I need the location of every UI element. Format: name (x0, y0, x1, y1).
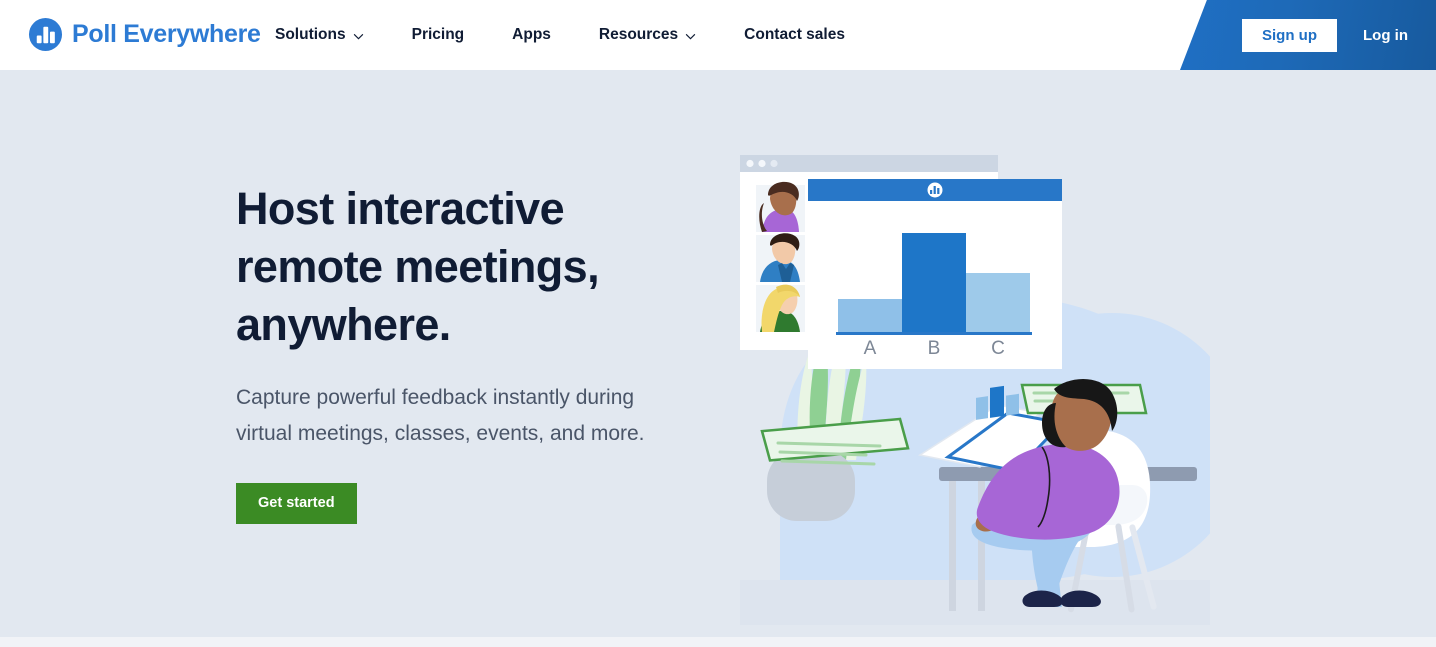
nav-auth-actions: Sign up Log in (1242, 0, 1436, 70)
poll-result-window: A B C (808, 179, 1062, 369)
poll-bars-circle-icon (928, 183, 943, 198)
bar-label-B: B (928, 338, 941, 359)
bar-label-C: C (991, 338, 1005, 359)
window-dot-1 (746, 160, 753, 167)
page-root: Poll Everywhere Solutions Pricing Apps R… (0, 0, 1436, 647)
get-started-button[interactable]: Get started (236, 483, 357, 524)
sign-up-button[interactable]: Sign up (1242, 19, 1337, 52)
participant-avatar-2 (756, 233, 805, 282)
nav-item-label: Resources (599, 26, 678, 44)
footer-strip (0, 637, 1436, 647)
hero-section: Host interactive remote meetings, anywhe… (0, 70, 1436, 637)
log-in-link[interactable]: Log in (1363, 27, 1408, 44)
hero-title-line-3: anywhere. (236, 299, 451, 350)
top-navigation-bar: Poll Everywhere Solutions Pricing Apps R… (0, 0, 1436, 70)
hero-title-line-2: remote meetings, (236, 241, 599, 292)
hero-illustration: A B C (740, 155, 1210, 630)
nav-item-label: Solutions (275, 26, 346, 44)
nav-item-contact-sales[interactable]: Contact sales (744, 26, 845, 44)
window-dot-2 (758, 160, 765, 167)
bar-B (902, 233, 966, 332)
bar-A (838, 299, 902, 332)
nav-item-label: Pricing (412, 26, 465, 44)
window-dot-3 (770, 160, 777, 167)
nav-item-solutions[interactable]: Solutions (275, 26, 364, 44)
bar-C (966, 273, 1030, 332)
poll-bars-circle-icon (28, 17, 63, 52)
hero-subtitle-line-1: Capture powerful feedback instantly duri… (236, 386, 634, 409)
nav-item-resources[interactable]: Resources (599, 26, 696, 44)
hero-subtitle: Capture powerful feedback instantly duri… (236, 380, 756, 452)
hero-copy: Host interactive remote meetings, anywhe… (236, 180, 756, 524)
brand-name: Poll Everywhere (72, 17, 261, 52)
chevron-down-icon (353, 33, 364, 40)
participant-avatar-3 (756, 285, 805, 332)
nav-item-apps[interactable]: Apps (512, 26, 551, 44)
bar-label-A: A (864, 338, 877, 359)
participant-avatar-1 (756, 182, 805, 232)
chart-axis-line (836, 332, 1032, 335)
floor (740, 580, 1210, 625)
page-title: Host interactive remote meetings, anywhe… (236, 180, 756, 354)
nav-item-label: Contact sales (744, 26, 845, 44)
brand-logo[interactable]: Poll Everywhere (28, 17, 261, 52)
hero-title-line-1: Host interactive (236, 183, 564, 234)
nav-item-label: Apps (512, 26, 551, 44)
chevron-down-icon (685, 33, 696, 40)
nav-item-pricing[interactable]: Pricing (412, 26, 465, 44)
hero-subtitle-line-2: virtual meetings, classes, events, and m… (236, 422, 645, 445)
nav-links: Solutions Pricing Apps Resources Contact… (275, 0, 845, 70)
